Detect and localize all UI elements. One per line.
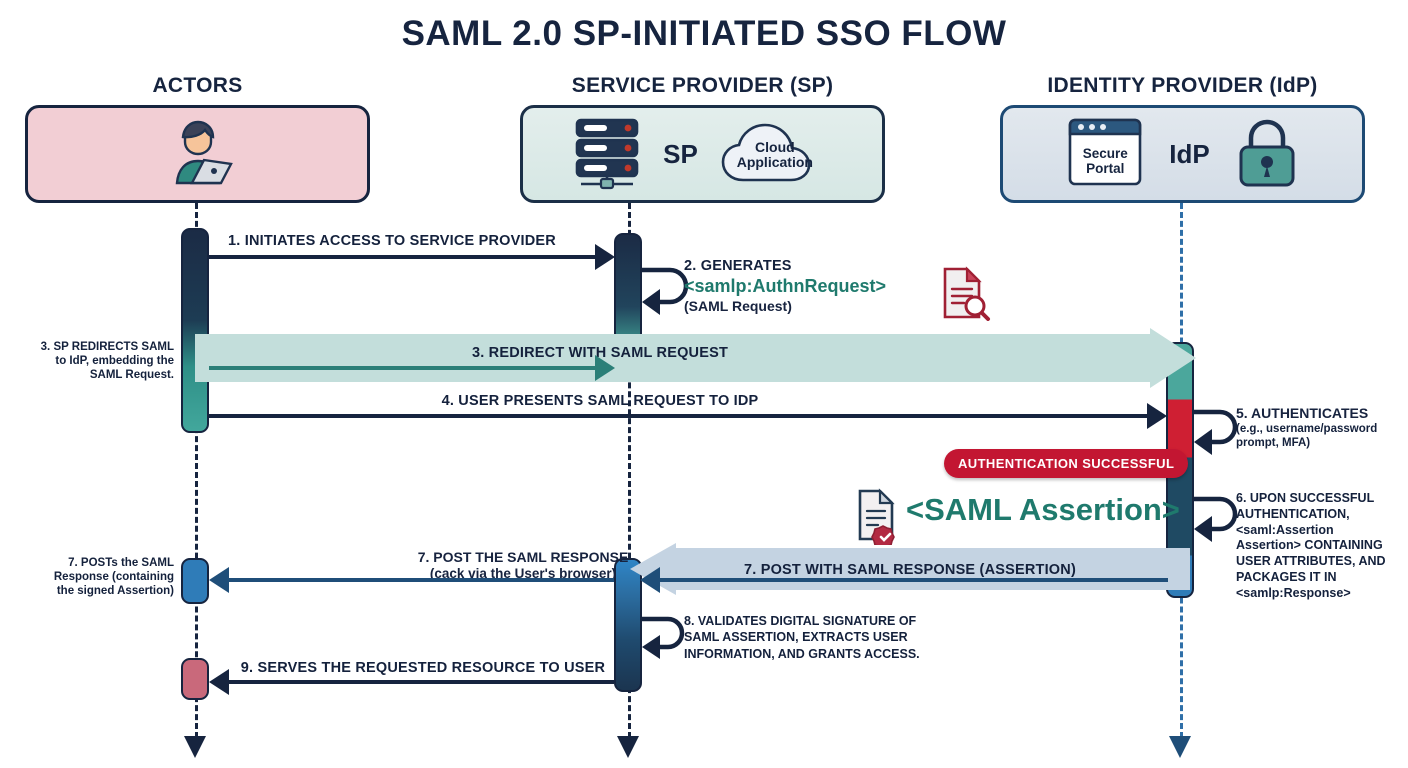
document-search-icon [935,265,991,326]
self-call-6-line-4: Assertion> CONTAINING [1236,538,1408,554]
side-note-7-line-2: Response (containing [8,570,174,584]
sequence-diagram-canvas: SAML 2.0 SP-INITIATED SSO FLOW ACTORS SE… [0,0,1408,768]
cloud-label-line1: Cloud [755,140,795,155]
saml-assertion-label: <SAML Assertion> [906,492,1180,528]
user-with-laptop-icon [159,117,237,192]
message-label-1: 1. INITIATES ACCESS TO SERVICE PROVIDER [228,233,556,249]
message-label-7b-group: 7. POST THE SAML RESPONSE (cack via the … [318,549,728,581]
browser-window-icon: Secure Portal [1065,115,1145,194]
self-call-8-line-2: SAML ASSERTION, EXTRACTS USER [684,629,944,645]
cloud-label-line2: Application [737,155,813,170]
message-arrowhead-4 [1147,403,1167,429]
message-label-7a: 7. POST WITH SAML RESPONSE (ASSERTION) [660,562,1160,578]
participant-label-sp: SP [663,139,698,170]
padlock-icon [1234,114,1300,195]
column-header-actors: ACTORS [25,74,370,98]
message-arrow-7a [660,578,1168,582]
participant-box-actors[interactable] [25,105,370,203]
side-note-3-line-3: SAML Request. [8,368,174,382]
self-call-8-line-3: INFORMATION, AND GRANTS ACCESS. [684,646,944,662]
portal-label-line2: Portal [1086,161,1124,176]
side-note-3-line-2: to IdP, embedding the [8,354,174,368]
self-call-sub1-5: (e.g., username/password [1236,422,1377,436]
message-label-7b: 7. POST THE SAML RESPONSE [318,549,728,565]
side-note-3: 3. SP REDIRECTS SAML to IdP, embedding t… [8,340,174,382]
lifeline-end-arrow-sp [617,736,639,758]
status-badge-authentication-successful: AUTHENTICATION SUCCESSFUL [944,449,1188,478]
side-note-7: 7. POSTs the SAML Response (containing t… [8,556,174,598]
message-arrowhead-1 [595,244,615,270]
self-call-8-line-1: 8. VALIDATES DIGITAL SIGNATURE OF [684,613,944,629]
message-arrowhead-9 [209,669,229,695]
activation-bar-actors-main [181,228,209,433]
participant-label-idp: IdP [1169,139,1209,170]
message-arrowhead-3 [595,355,615,381]
self-call-6-line-1: 6. UPON SUCCESSFUL [1236,491,1408,507]
self-call-text-6: 6. UPON SUCCESSFUL AUTHENTICATION, <saml… [1236,491,1408,601]
side-note-7-line-3: the signed Assertion) [8,584,174,598]
activation-bar-actors-response [181,558,209,604]
self-call-6-line-5: USER ATTRIBUTES, AND [1236,554,1408,570]
self-call-6-line-2: AUTHENTICATION, [1236,507,1408,523]
message-arrow-7b [228,578,614,582]
self-call-6-line-7: <samlp:Response> [1236,586,1408,602]
participant-box-sp[interactable]: SP Cloud Application [520,105,885,203]
lifeline-end-arrow-actors [184,736,206,758]
participant-box-idp[interactable]: Secure Portal IdP [1000,105,1365,203]
cloud-icon: Cloud Application [712,114,838,195]
side-note-3-line-1: 3. SP REDIRECTS SAML [8,340,174,354]
message-arrow-9 [228,680,614,684]
message-arrow-3 [209,366,595,370]
column-header-sp: SERVICE PROVIDER (SP) [520,74,885,98]
self-call-6-line-3: <saml:Assertion [1236,523,1408,539]
side-note-7-line-1: 7. POSTs the SAML [8,556,174,570]
certified-document-icon [848,487,904,550]
message-arrow-1 [209,255,595,259]
self-call-sub-2: (SAML Request) [684,298,886,314]
self-call-text-8: 8. VALIDATES DIGITAL SIGNATURE OF SAML A… [684,613,944,662]
self-call-title-2: 2. GENERATES [684,258,886,274]
page-title: SAML 2.0 SP-INITIATED SSO FLOW [0,14,1408,54]
message-label-9: 9. SERVES THE REQUESTED RESOURCE TO USER [228,660,618,676]
self-call-6-line-6: PACKAGES IT IN [1236,570,1408,586]
activation-bar-actors-resource [181,658,209,700]
message-arrow-4 [209,414,1147,418]
portal-label-line1: Secure [1083,146,1128,161]
message-arrowhead-7b [209,567,229,593]
column-header-idp: IDENTITY PROVIDER (IdP) [1000,74,1365,98]
self-call-code-2: <samlp:AuthnRequest> [684,276,886,297]
server-rack-icon [567,114,649,195]
self-call-title-5: 5. AUTHENTICATES [1236,405,1377,421]
message-label-4: 4. USER PRESENTS SAML REQUEST TO IDP [230,393,970,409]
self-call-text-2: 2. GENERATES <samlp:AuthnRequest> (SAML … [684,258,886,314]
lifeline-end-arrow-idp [1169,736,1191,758]
self-call-text-5: 5. AUTHENTICATES (e.g., username/passwor… [1236,405,1377,450]
self-call-sub2-5: prompt, MFA) [1236,436,1377,450]
